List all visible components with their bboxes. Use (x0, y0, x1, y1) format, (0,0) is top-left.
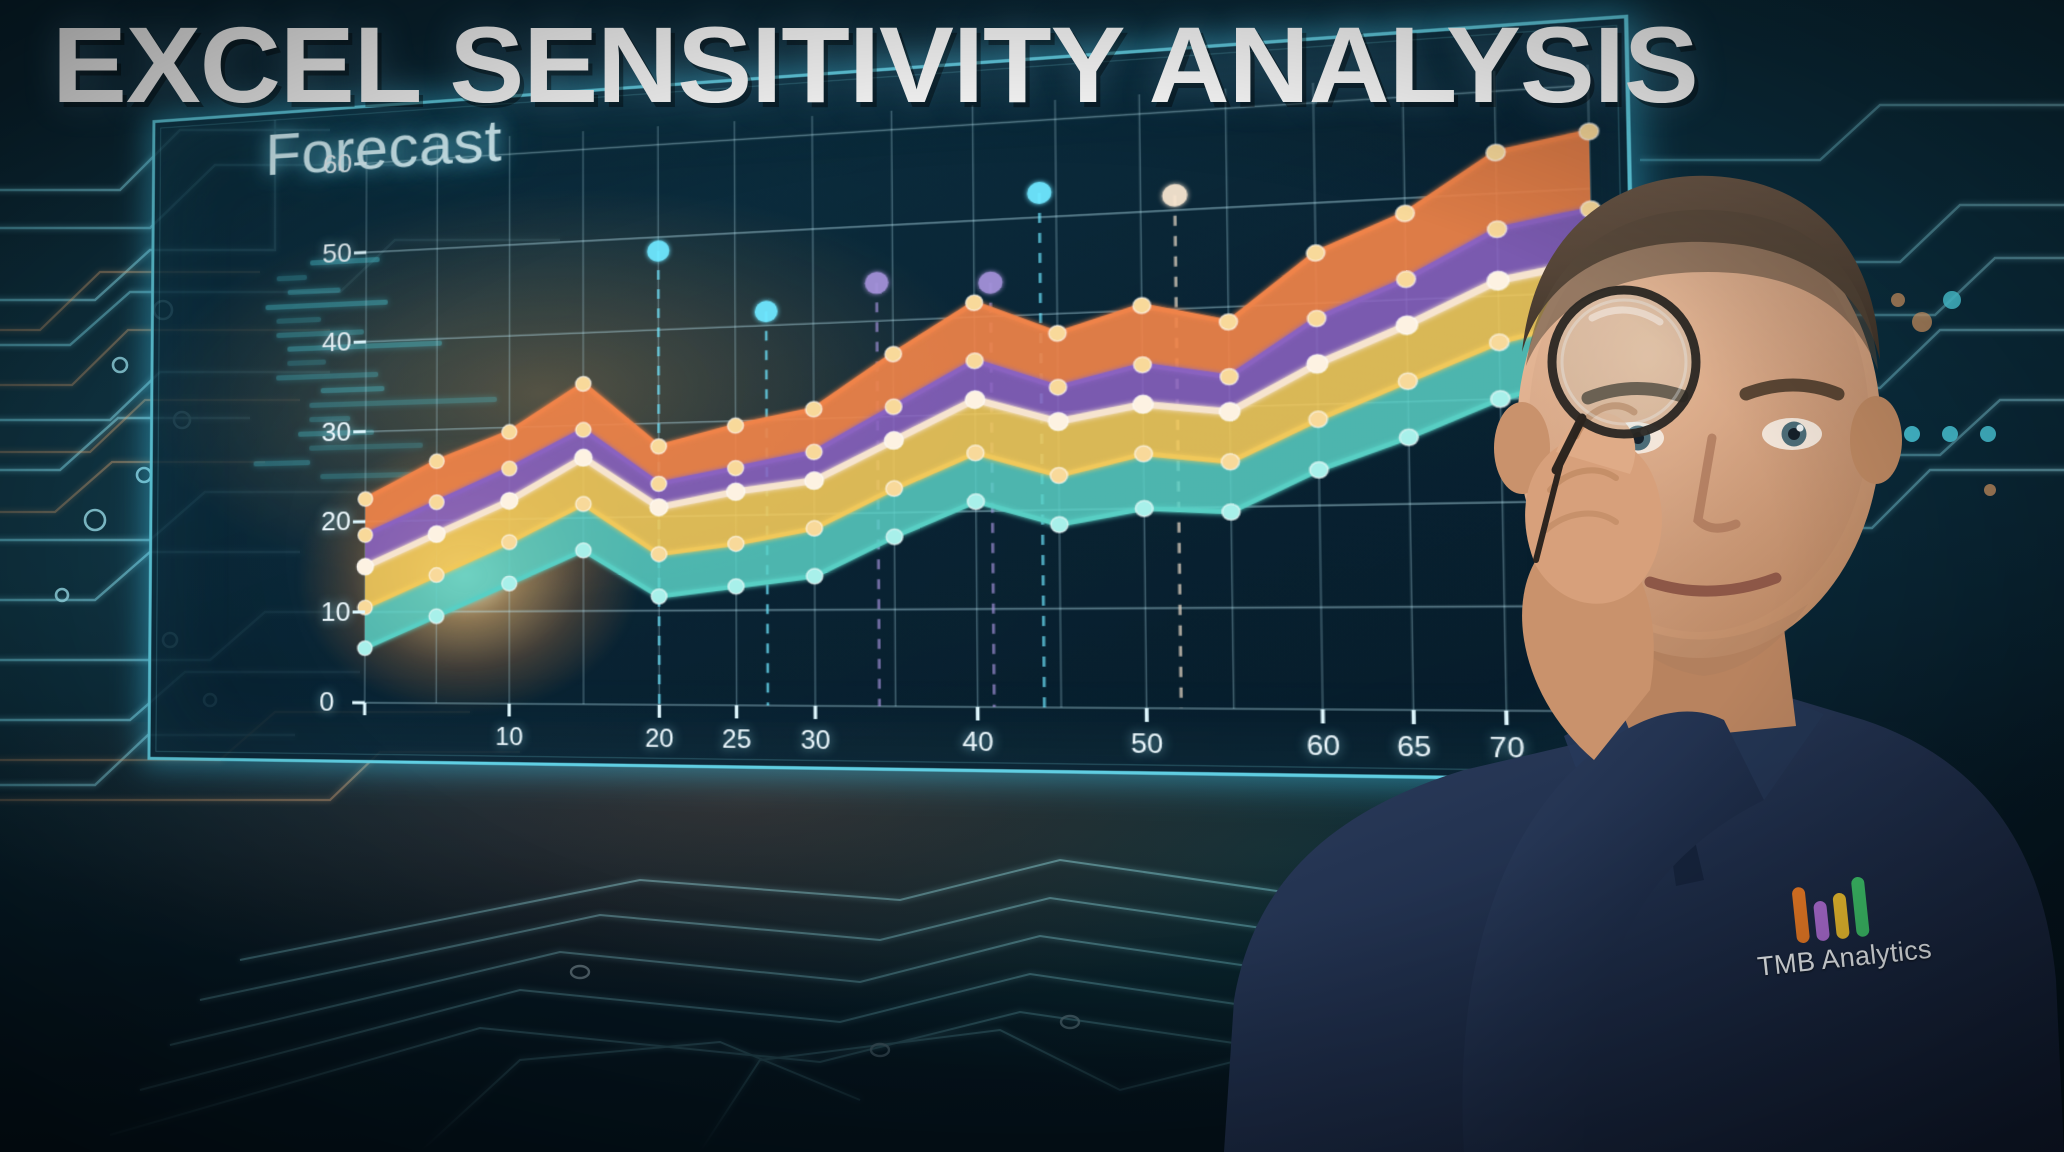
youtube-thumbnail: Forecast 1020304050600 10202530405060657… (0, 0, 2064, 1152)
vignette-overlay (0, 0, 2064, 1152)
